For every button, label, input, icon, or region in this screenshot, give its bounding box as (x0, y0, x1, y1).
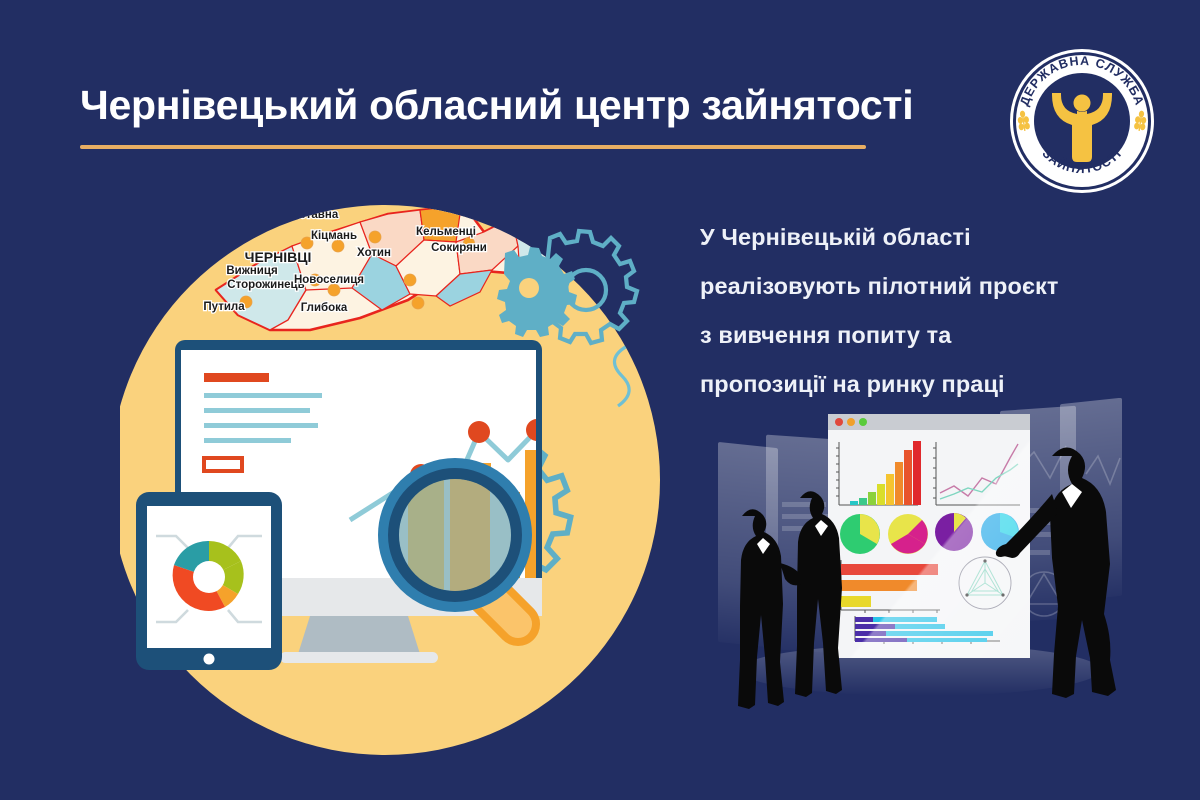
map-city-label: Кіцмань (311, 230, 357, 242)
monitor-stand (298, 616, 420, 654)
map-city-label: Кельменці (416, 226, 476, 238)
map-city-label: Сокиряни (431, 242, 487, 254)
page-title: Чернівецький обласний центр зайнятості (80, 82, 913, 129)
presentation-window (828, 414, 1030, 658)
map-capital-label: ЧЕРНІВЦІ (245, 249, 312, 265)
tablet-home-button[interactable] (204, 654, 215, 665)
map-city-label: Заставна (286, 209, 339, 221)
map-city-label: Глибока (301, 302, 348, 314)
map-city-label: Путила (203, 301, 245, 313)
message-line-1: У Чернівецькій області (700, 213, 1160, 262)
tablet (136, 492, 282, 670)
presentation-illustration (700, 398, 1140, 728)
window-glare (828, 414, 1030, 658)
tablet-donut-chart (173, 541, 244, 611)
screen-heading-bar (204, 373, 269, 382)
map-city-label: Хотин (357, 247, 391, 259)
agency-logo: ДЕРЖАВНА СЛУЖБА ЗАЙНЯТОСТІ (1008, 47, 1156, 195)
message-block: У Чернівецькій області реалізовують піло… (700, 213, 1160, 409)
message-line-2: реалізовують пілотний проєкт (700, 262, 1160, 311)
message-line-3: з вивчення попиту та (700, 311, 1160, 360)
title-underline-rule (80, 145, 866, 149)
analytics-illustration: Заставна Кіцмань Кельменці Хотин Сокирян… (120, 170, 680, 770)
map-city-label: Вижниця (226, 265, 277, 277)
monitor-base (280, 652, 438, 663)
map-city-label: Новоселиця (294, 274, 364, 286)
